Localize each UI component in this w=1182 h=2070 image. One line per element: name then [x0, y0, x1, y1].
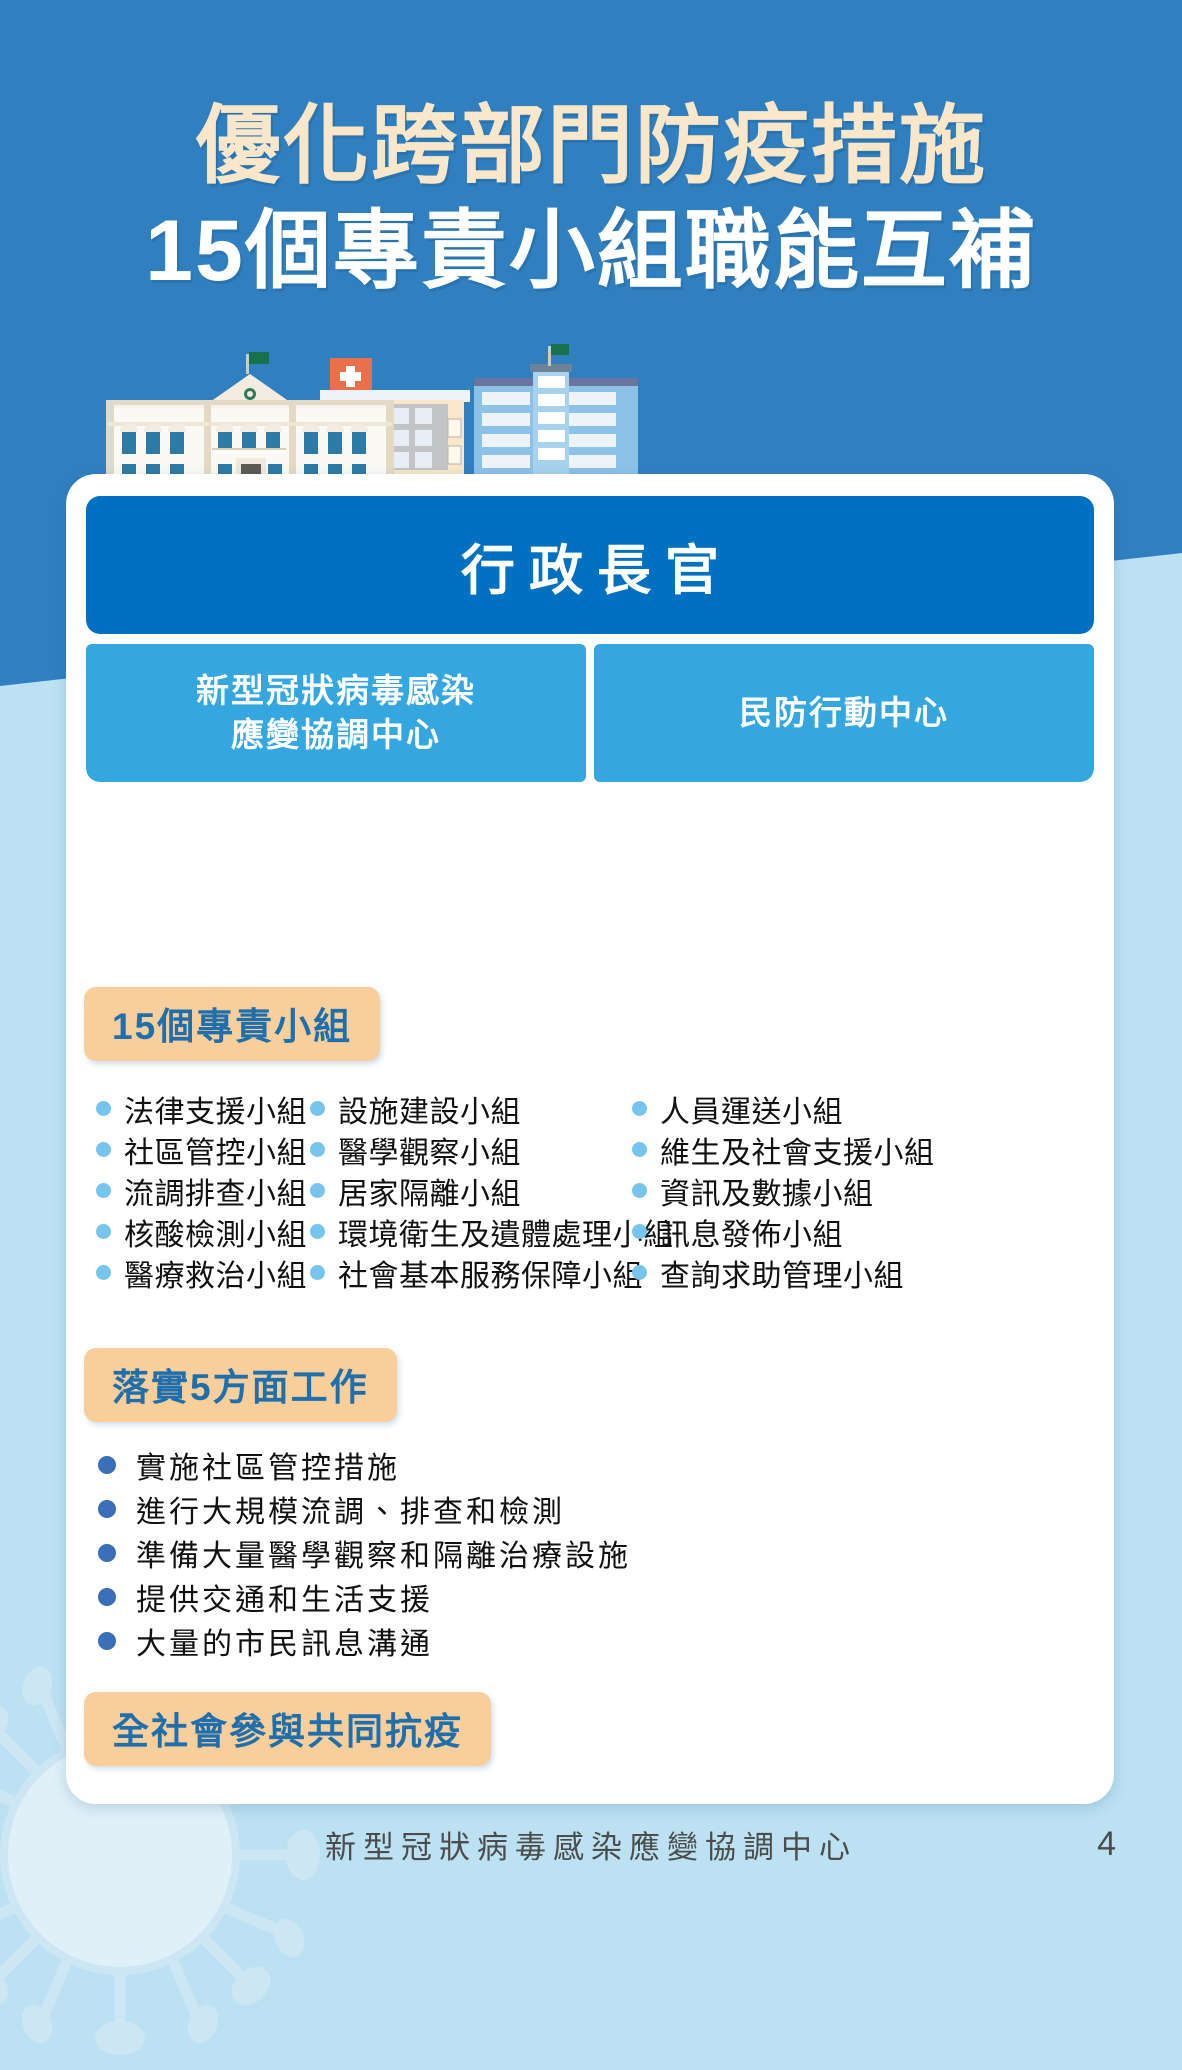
bullet-dot-icon [310, 1142, 325, 1157]
bullet-dot-icon [96, 1183, 111, 1198]
bullet-dot-icon [98, 1500, 116, 1518]
centre-covid-line-2: 應變協調中心 [196, 713, 476, 757]
group-label: 社會基本服務保障小組 [338, 1251, 643, 1295]
centre-civil-label: 民防行動中心 [739, 691, 949, 735]
group-label: 環境衛生及遺體處理小組 [338, 1210, 674, 1254]
list-item: 社區管控小組 [96, 1129, 296, 1170]
list-item: 環境衛生及遺體處理小組 [310, 1211, 632, 1252]
list-item: 查詢求助管理小組 [632, 1252, 932, 1293]
centre-covid-label: 新型冠狀病毒感染 應變協調中心 [196, 669, 476, 756]
work-label: 準備大量醫學觀察和隔離治療設施 [136, 1531, 631, 1575]
bullet-dot-icon [632, 1265, 647, 1280]
bullet-dot-icon [96, 1142, 111, 1157]
group-label: 流調排查小組 [124, 1169, 307, 1213]
work-label: 大量的市民訊息溝通 [136, 1619, 433, 1663]
bullet-dot-icon [310, 1183, 325, 1198]
bullet-dot-icon [98, 1632, 116, 1650]
list-item: 設施建設小組 [310, 1088, 632, 1129]
group-label: 人員運送小組 [660, 1087, 843, 1131]
group-label: 社區管控小組 [124, 1128, 307, 1172]
bullet-dot-icon [96, 1224, 111, 1239]
list-item: 訊息發佈小組 [632, 1211, 932, 1252]
bullet-dot-icon [96, 1265, 111, 1280]
groups-column-3: 人員運送小組 維生及社會支援小組 資訊及數據小組 訊息發佈小組 查詢求助管理小組 [632, 1088, 932, 1293]
special-groups-list: 法律支援小組 社區管控小組 流調排查小組 核酸檢測小組 醫療救治小組 設施建設小… [0, 1088, 1182, 1293]
list-item: 醫學觀察小組 [310, 1129, 632, 1170]
bullet-dot-icon [632, 1183, 647, 1198]
chief-executive-panel: 行政長官 [86, 496, 1094, 634]
centre-covid-coordination: 新型冠狀病毒感染 應變協調中心 [86, 644, 586, 782]
groups-column-1: 法律支援小組 社區管控小組 流調排查小組 核酸檢測小組 醫療救治小組 [96, 1088, 296, 1293]
coordination-centres-row: 新型冠狀病毒感染 應變協調中心 民防行動中心 [86, 644, 1094, 782]
work-label: 提供交通和生活支援 [136, 1575, 433, 1619]
list-item: 維生及社會支援小組 [632, 1129, 932, 1170]
centre-covid-line-1: 新型冠狀病毒感染 [196, 669, 476, 713]
list-item: 準備大量醫學觀察和隔離治療設施 [98, 1531, 631, 1575]
list-item: 大量的市民訊息溝通 [98, 1619, 631, 1663]
list-item: 流調排查小組 [96, 1170, 296, 1211]
bullet-dot-icon [310, 1224, 325, 1239]
group-label: 訊息發佈小組 [660, 1210, 843, 1254]
title-line-2: 15個專責小組職能互補 [0, 201, 1182, 302]
list-item: 人員運送小組 [632, 1088, 932, 1129]
list-item: 社會基本服務保障小組 [310, 1252, 632, 1293]
work-label: 實施社區管控措施 [136, 1443, 400, 1487]
bullet-dot-icon [632, 1142, 647, 1157]
bullet-dot-icon [632, 1224, 647, 1239]
list-item: 資訊及數據小組 [632, 1170, 932, 1211]
title-line-1: 優化跨部門防疫措施 [0, 96, 1182, 197]
list-item: 提供交通和生活支援 [98, 1575, 631, 1619]
bullet-dot-icon [96, 1101, 111, 1116]
badge-five-works: 落實5方面工作 [84, 1348, 397, 1422]
list-item: 實施社區管控措施 [98, 1443, 631, 1487]
group-label: 查詢求助管理小組 [660, 1251, 904, 1295]
badge-15-groups: 15個專責小組 [84, 987, 380, 1061]
chief-executive-label: 行政長官 [447, 526, 733, 605]
group-label: 資訊及數據小組 [660, 1169, 874, 1213]
page-title: 優化跨部門防疫措施 15個專責小組職能互補 [0, 96, 1182, 303]
group-label: 居家隔離小組 [338, 1169, 521, 1213]
work-label: 進行大規模流調、排查和檢測 [136, 1487, 565, 1531]
bullet-dot-icon [310, 1101, 325, 1116]
group-label: 法律支援小組 [124, 1087, 307, 1131]
groups-column-2: 設施建設小組 醫學觀察小組 居家隔離小組 環境衛生及遺體處理小組 社會基本服務保… [310, 1088, 632, 1293]
bullet-dot-icon [98, 1588, 116, 1606]
group-label: 維生及社會支援小組 [660, 1128, 935, 1172]
bullet-dot-icon [98, 1456, 116, 1474]
page-number: 4 [1097, 1825, 1116, 1864]
list-item: 核酸檢測小組 [96, 1211, 296, 1252]
list-item: 居家隔離小組 [310, 1170, 632, 1211]
centre-civil-protection: 民防行動中心 [594, 644, 1094, 782]
list-item: 進行大規模流調、排查和檢測 [98, 1487, 631, 1531]
page-footer: 新型冠狀病毒感染應變協調中心 4 [0, 1816, 1182, 1872]
five-works-list: 實施社區管控措施 進行大規模流調、排查和檢測 準備大量醫學觀察和隔離治療設施 提… [98, 1443, 631, 1663]
list-item: 醫療救治小組 [96, 1252, 296, 1293]
group-label: 設施建設小組 [338, 1087, 521, 1131]
group-label: 醫學觀察小組 [338, 1128, 521, 1172]
badge-whole-society: 全社會參與共同抗疫 [84, 1692, 491, 1766]
list-item: 法律支援小組 [96, 1088, 296, 1129]
bullet-dot-icon [632, 1101, 647, 1116]
office-building-icon [474, 344, 638, 486]
footer-organisation-name: 新型冠狀病毒感染應變協調中心 [0, 1822, 1182, 1867]
group-label: 核酸檢測小組 [124, 1210, 307, 1254]
bullet-dot-icon [310, 1265, 325, 1280]
bullet-dot-icon [98, 1544, 116, 1562]
buildings-illustration [78, 336, 638, 486]
group-label: 醫療救治小組 [124, 1251, 307, 1295]
